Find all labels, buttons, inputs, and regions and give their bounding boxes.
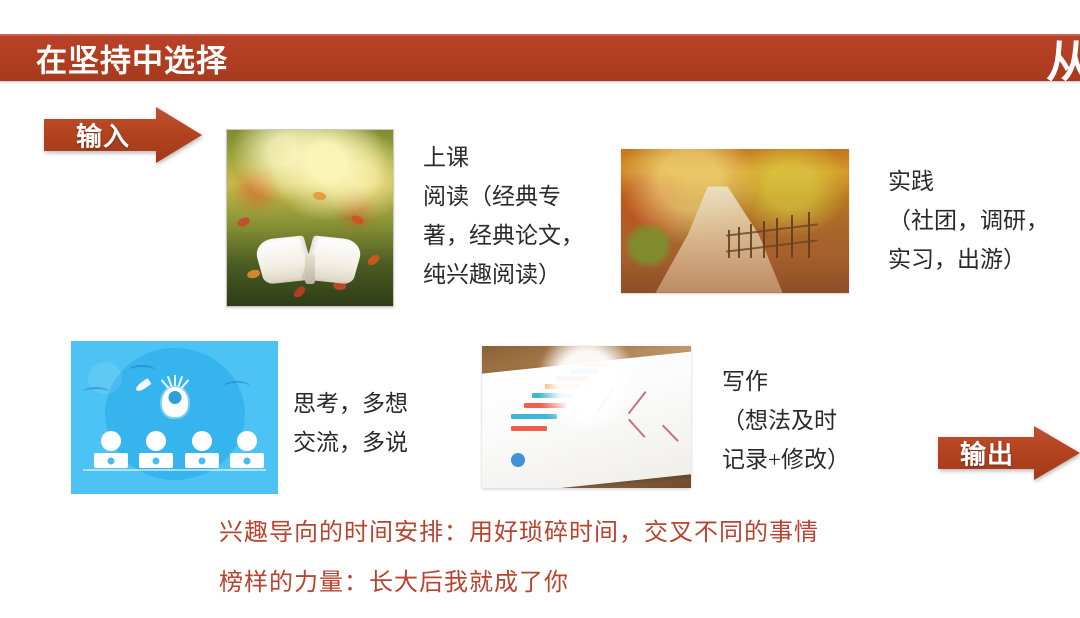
input-arrow-label: 输入 xyxy=(76,117,130,154)
photo-content xyxy=(227,130,393,306)
summary-line-time-arrangement: 兴趣导向的时间安排：用好琐碎时间，交叉不同的事情 xyxy=(219,512,819,547)
laptop-icon xyxy=(185,453,219,468)
title-banner: 在坚持中选择 从 xyxy=(0,34,1080,81)
summary-line-role-model: 榜样的力量：长大后我就成了你 xyxy=(219,562,569,597)
fence-post xyxy=(738,227,740,258)
person-head xyxy=(237,431,257,451)
class-and-reading-text: 上课 阅读（经典专 著，经典论文， 纯兴趣阅读） xyxy=(423,138,613,294)
person-with-laptop xyxy=(139,431,173,468)
practice-text: 实践 （社团，调研， 实习，出游） xyxy=(888,162,1073,279)
person-head xyxy=(192,431,212,451)
person-head xyxy=(146,431,166,451)
wooden-fence xyxy=(726,209,831,258)
blue-stamp-icon xyxy=(511,453,525,467)
person-with-laptop xyxy=(94,431,128,468)
squiggle-decoration xyxy=(224,381,250,391)
lightbulb-core xyxy=(168,391,181,404)
fence-post xyxy=(750,224,752,258)
autumn-forest-path-photo xyxy=(621,149,849,293)
laptop-icon xyxy=(230,453,264,468)
open-book-autumn-photo xyxy=(226,129,394,307)
fence-post xyxy=(763,221,765,258)
teamwork-idea-illustration xyxy=(71,341,278,494)
person-with-laptop xyxy=(185,431,219,468)
think-and-talk-text: 思考，多想 交流，多说 xyxy=(293,384,453,462)
input-flow-arrow: 输入 xyxy=(44,107,202,163)
photo-content xyxy=(621,149,849,293)
foliage-patch xyxy=(626,224,672,267)
laptop-icon xyxy=(139,453,173,468)
output-flow-arrow: 输出 xyxy=(938,426,1080,480)
fence-post xyxy=(776,218,778,258)
book-spine xyxy=(305,254,315,284)
light-glare xyxy=(541,346,633,431)
lightbulb-ray xyxy=(174,375,176,386)
photo-content xyxy=(482,346,691,488)
fence-post xyxy=(791,215,793,258)
writing-text: 写作 （想法及时 记录+修改） xyxy=(722,362,902,479)
page-title: 在坚持中选择 xyxy=(36,35,228,80)
fence-post xyxy=(808,212,810,259)
squiggle-decoration xyxy=(83,387,109,397)
person-head xyxy=(101,431,121,451)
printed-charts-reports-photo xyxy=(482,346,691,488)
banner-corner-glyph: 从 xyxy=(1046,34,1080,81)
person-with-laptop xyxy=(230,431,264,468)
laptop-icon xyxy=(94,453,128,468)
ground-line xyxy=(83,469,265,471)
output-arrow-label: 输出 xyxy=(960,435,1014,472)
illustration-content xyxy=(71,341,278,494)
